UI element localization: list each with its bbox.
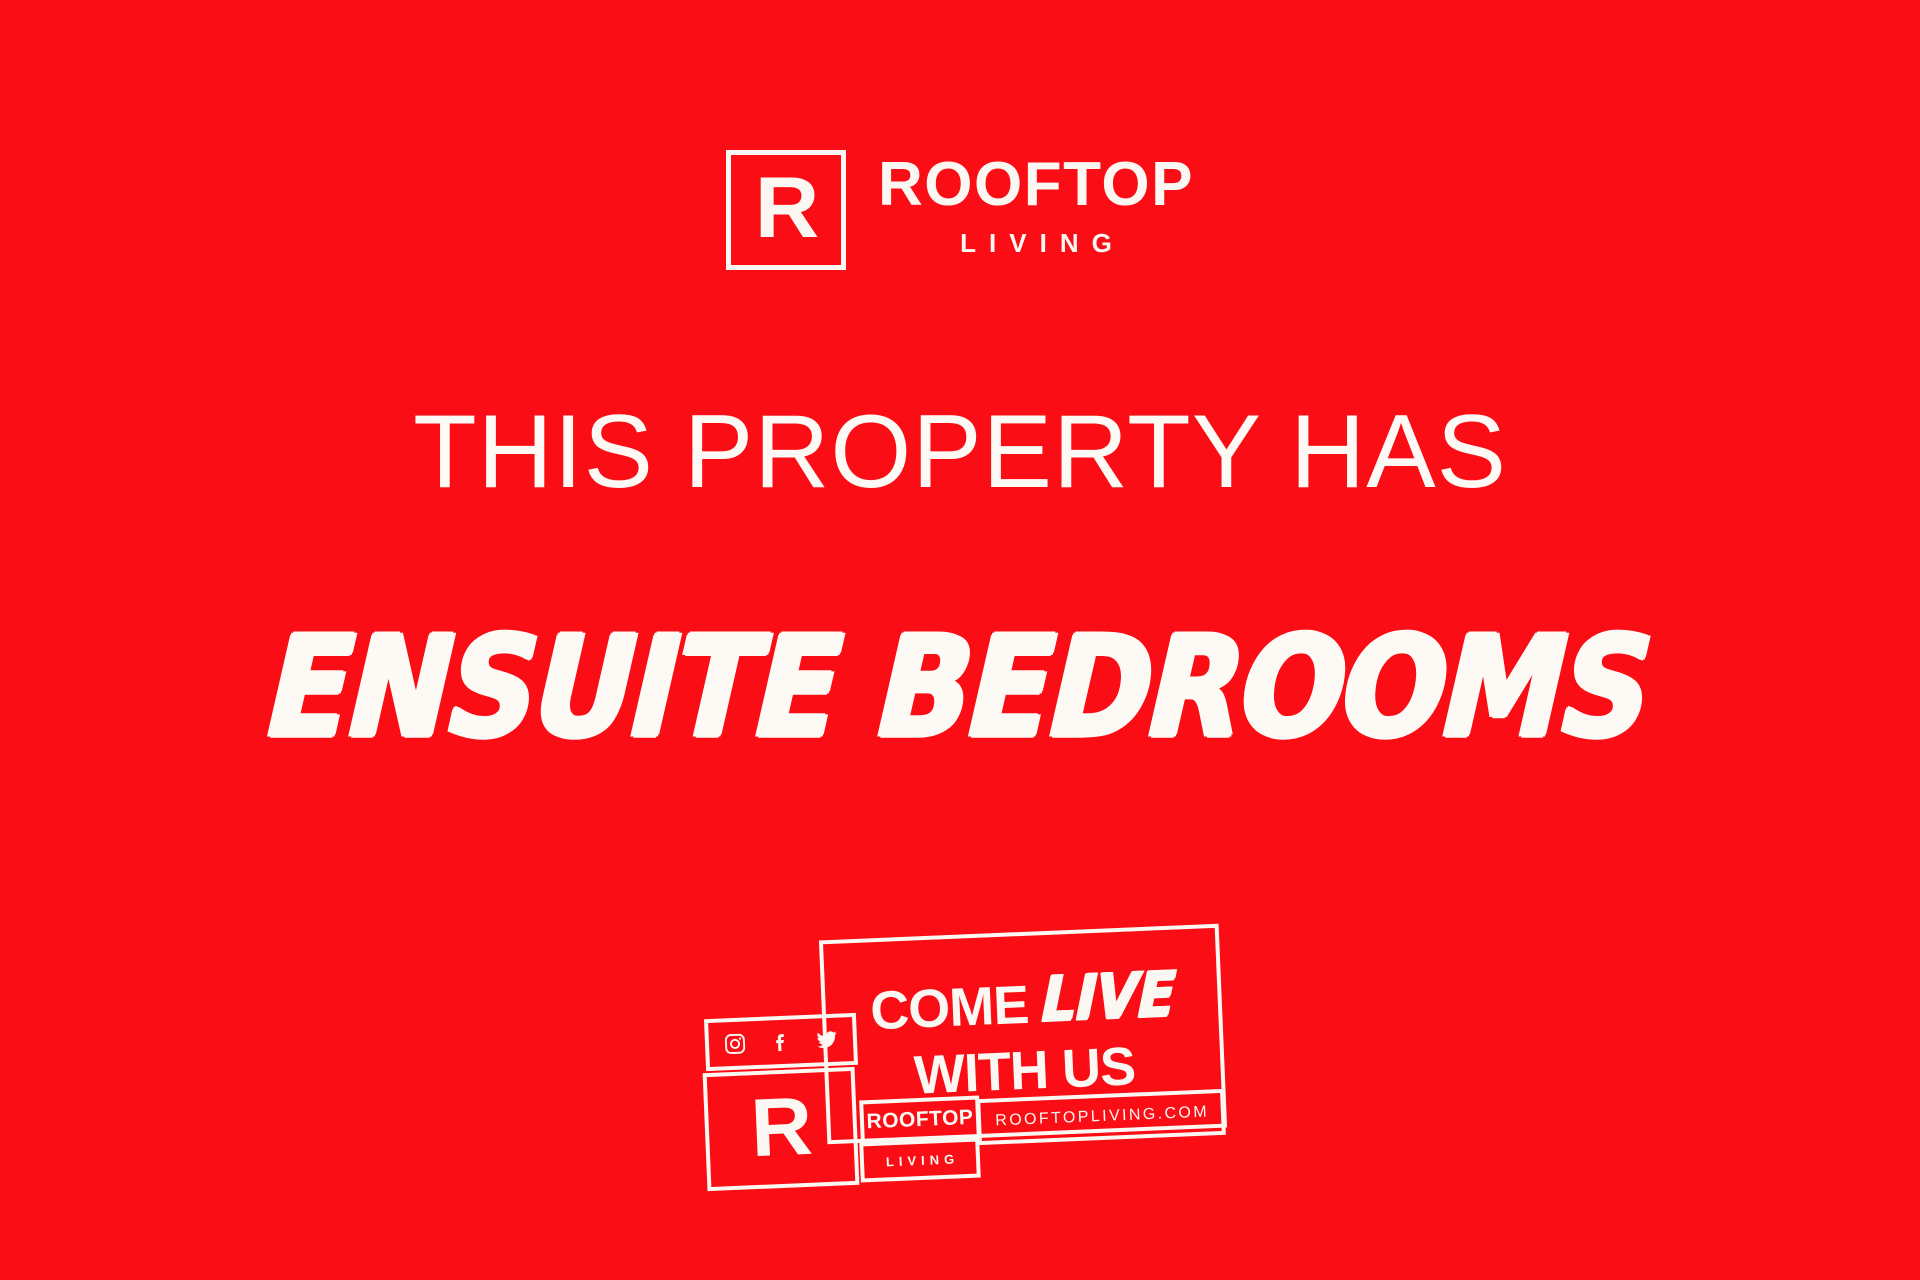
instagram-icon[interactable]: [722, 1030, 749, 1057]
brand-wordmark: ROOFTOP LIVING: [878, 150, 1194, 256]
badge-brand-name-box: ROOFTOP: [859, 1096, 981, 1145]
brand-tagline: LIVING: [947, 230, 1125, 256]
footer-badge: R COME LIVE WITH US ROOFTOP LIVING ROOFT…: [705, 908, 1225, 1188]
brand-lockup: R ROOFTOP LIVING: [0, 150, 1920, 270]
slogan-come: COME: [869, 978, 1029, 1039]
website-url: ROOFTOPLIVING.COM: [993, 1103, 1210, 1130]
poster-canvas: R ROOFTOP LIVING THIS PROPERTY HAS ENSUI…: [0, 0, 1920, 1280]
slogan-line-1: COME LIVE: [869, 972, 1174, 1039]
headline-text: THIS PROPERTY HAS: [0, 398, 1920, 507]
facebook-icon[interactable]: [767, 1028, 794, 1055]
logo-r-letter: R: [755, 165, 818, 251]
rooftop-logo-mark: R: [726, 150, 846, 270]
slogan-live: LIVE: [1041, 964, 1176, 1031]
feature-text: ENSUITE BEDROOMS: [266, 617, 1654, 756]
brand-name: ROOFTOP: [878, 154, 1194, 216]
badge-r-letter: R: [750, 1086, 813, 1170]
feature-line: ENSUITE BEDROOMS: [0, 628, 1920, 746]
website-url-box[interactable]: ROOFTOPLIVING.COM: [976, 1089, 1226, 1145]
badge-brand-tagline: LIVING: [881, 1151, 960, 1169]
badge-brand-tagline-box: LIVING: [859, 1138, 981, 1183]
badge-brand-name: ROOFTOP: [866, 1106, 974, 1134]
